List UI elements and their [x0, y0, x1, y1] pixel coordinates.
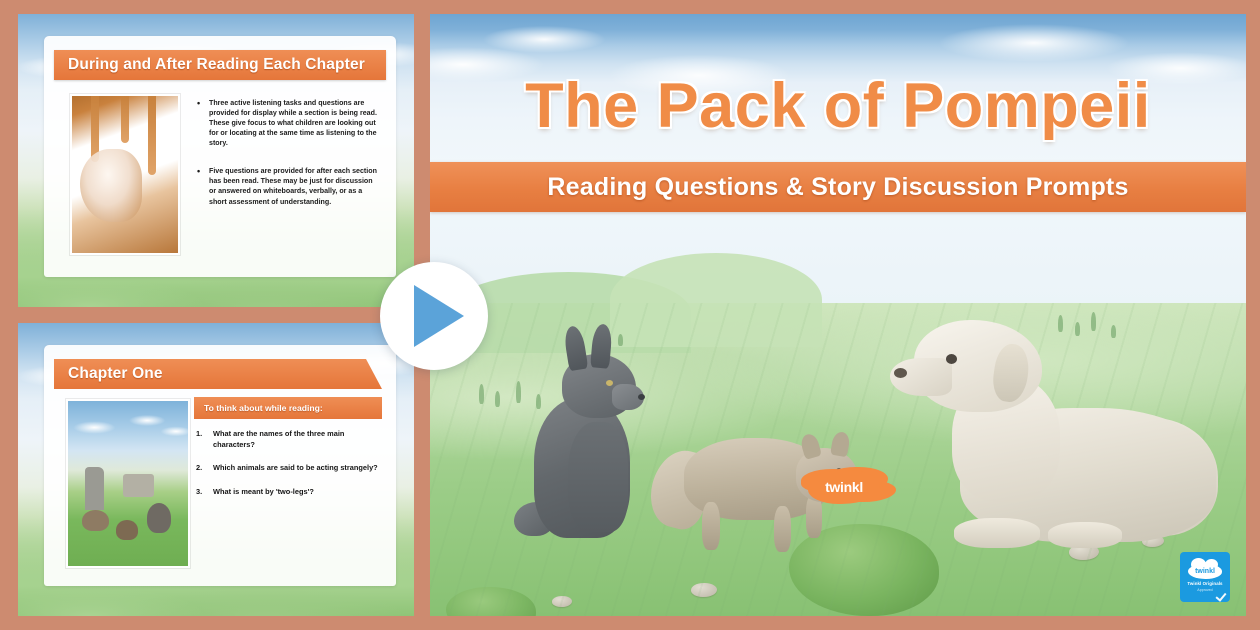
hero-title-block: The Pack of Pompeii Reading Questions & … — [430, 72, 1246, 212]
badge-line-2: Approved — [1197, 588, 1212, 592]
preview-stage: During and After Reading Each Chapter Th… — [0, 0, 1260, 630]
slide-subheader-text: To think about while reading: — [204, 403, 323, 413]
question-text: Which animals are said to be acting stra… — [213, 463, 378, 474]
slide-bullet-list: Three active listening tasks and questio… — [196, 98, 380, 259]
check-icon — [1215, 590, 1226, 602]
list-item: 3. What is meant by 'two-legs'? — [196, 487, 384, 498]
play-icon — [414, 285, 464, 347]
slide-header-bar: During and After Reading Each Chapter — [54, 50, 386, 80]
question-number: 1. — [196, 429, 205, 450]
slide-content-card: Chapter One To think about while reading… — [44, 345, 396, 586]
question-number: 2. — [196, 463, 205, 474]
list-item: Three active listening tasks and questio… — [196, 98, 380, 148]
slide-content-card: During and After Reading Each Chapter Th… — [44, 36, 396, 277]
slide-thumbnail-chapter-one[interactable]: Chapter One To think about while reading… — [18, 323, 414, 616]
twinkl-badge-word: twinkl — [1188, 564, 1222, 579]
slide-header-bar: Chapter One — [54, 359, 382, 389]
slide-image-sepia-dog — [70, 94, 180, 255]
large-cream-dog-illustration — [898, 318, 1218, 548]
hero-subtitle-bar: Reading Questions & Story Discussion Pro… — [430, 162, 1246, 212]
question-text: What are the names of the three main cha… — [213, 429, 384, 450]
twinkl-watermark: twinkl — [808, 470, 880, 504]
dark-dog-illustration — [528, 328, 646, 538]
slide-header-title: Chapter One — [68, 365, 163, 383]
list-item: 1. What are the names of the three main … — [196, 429, 384, 450]
slide-thumbnail-column: During and After Reading Each Chapter Th… — [18, 14, 414, 616]
twinkl-originals-badge: twinkl Twinkl Originals Approved — [1180, 552, 1230, 602]
page-title: The Pack of Pompeii — [430, 72, 1246, 140]
play-button[interactable] — [380, 262, 488, 370]
badge-line-1: Twinkl Originals — [1187, 581, 1222, 587]
twinkl-cloud-icon: twinkl — [1188, 564, 1222, 579]
question-text: What is meant by 'two-legs'? — [213, 487, 314, 498]
slide-question-list: 1. What are the names of the three main … — [196, 429, 384, 511]
page-subtitle: Reading Questions & Story Discussion Pro… — [547, 173, 1128, 202]
question-number: 3. — [196, 487, 205, 498]
slide-subheader-bar: To think about while reading: — [194, 397, 382, 419]
list-item: Five questions are provided for after ea… — [196, 166, 380, 206]
hero-preview-panel[interactable]: The Pack of Pompeii Reading Questions & … — [430, 14, 1246, 616]
slide-thumbnail-during-after-reading[interactable]: During and After Reading Each Chapter Th… — [18, 14, 414, 307]
slide-image-pompeii-ruins — [66, 399, 190, 568]
slide-header-title: During and After Reading Each Chapter — [68, 56, 365, 74]
list-item: 2. Which animals are said to be acting s… — [196, 463, 384, 474]
twinkl-watermark-text: twinkl — [808, 470, 880, 504]
